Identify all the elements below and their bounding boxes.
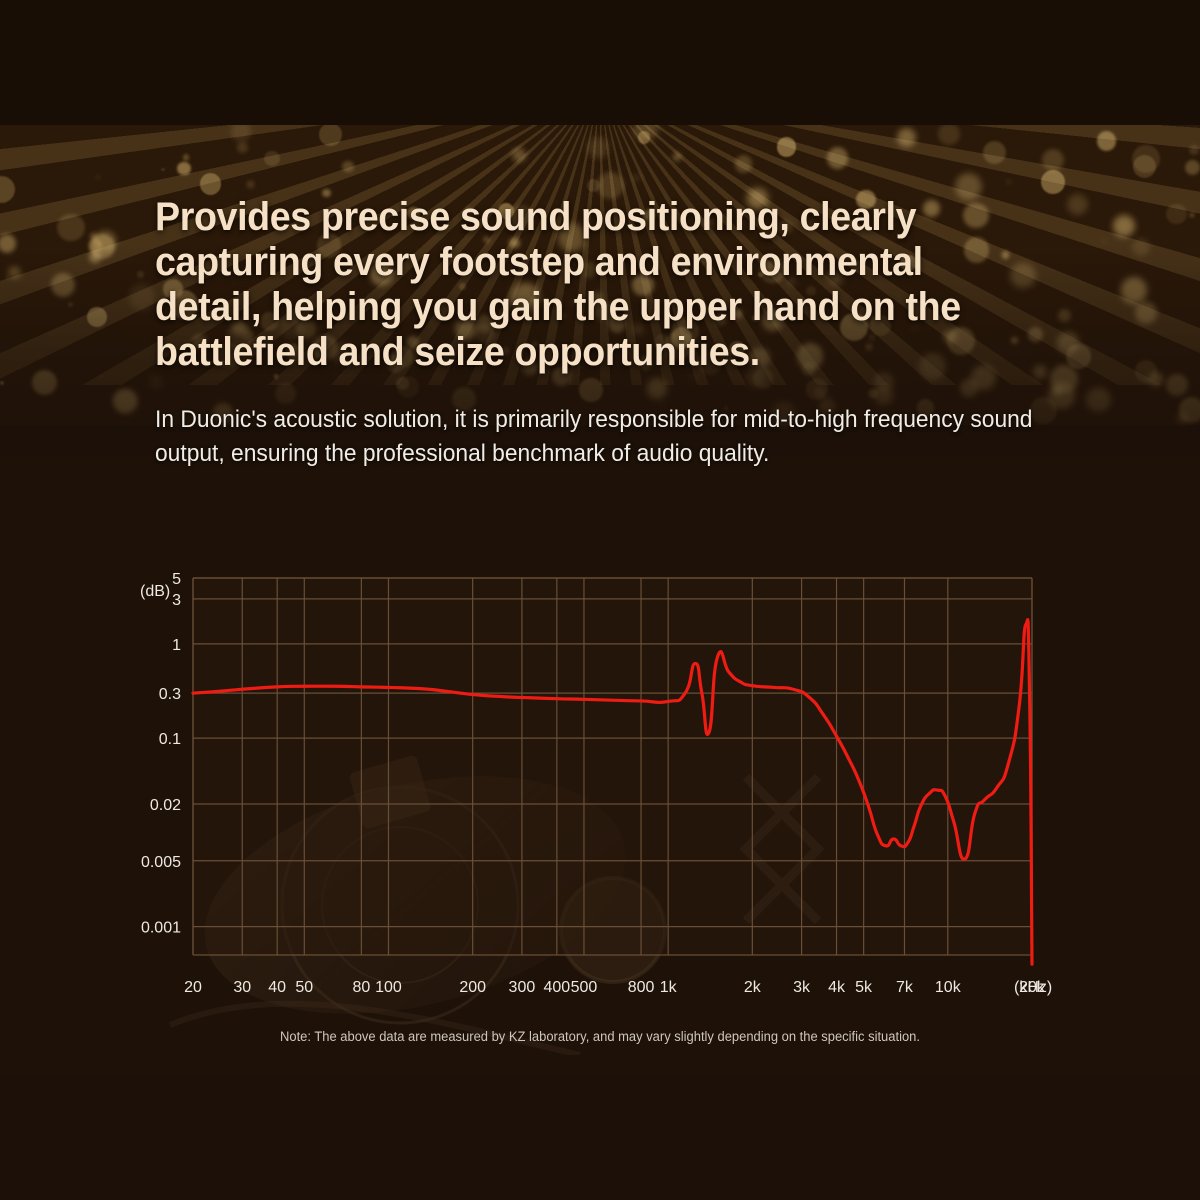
y-tick-label: 0.3 <box>159 686 181 703</box>
x-tick-label: 200 <box>459 979 486 996</box>
x-tick-label: 400 <box>544 979 571 996</box>
frequency-response-chart: 5310.30.10.020.0050.001 2030405080100200… <box>0 0 1200 1200</box>
chart-svg: 5310.30.10.020.0050.001 2030405080100200… <box>0 0 1200 1200</box>
chart-note: Note: The above data are measured by KZ … <box>24 1029 1176 1044</box>
x-tick-label: 50 <box>295 979 313 996</box>
letterbox-top <box>0 0 1200 125</box>
x-tick-label: 5k <box>855 979 873 996</box>
y-tick-label: 0.001 <box>141 920 181 937</box>
y-tick-label: 0.02 <box>150 797 181 814</box>
y-tick-label: 3 <box>172 592 181 609</box>
x-tick-label: 100 <box>375 979 402 996</box>
y-tick-label: 5 <box>172 571 181 588</box>
x-tick-label: 300 <box>509 979 536 996</box>
plot-area-background <box>193 578 1032 955</box>
letterbox-bottom <box>0 1075 1200 1200</box>
x-tick-label: 20 <box>184 979 202 996</box>
x-tick-label: 40 <box>268 979 286 996</box>
x-tick-label: 4k <box>828 979 846 996</box>
y-tick-label: 0.005 <box>141 854 181 871</box>
y-axis-tick-labels: 5310.30.10.020.0050.001 <box>141 571 181 937</box>
x-tick-label: 500 <box>571 979 598 996</box>
x-axis-label: (kHz) <box>1014 979 1052 996</box>
x-tick-label: 800 <box>628 979 655 996</box>
y-axis-label: (dB) <box>140 583 170 600</box>
x-tick-label: 2k <box>744 979 762 996</box>
x-tick-label: 10k <box>935 979 962 996</box>
x-tick-label: 1k <box>660 979 678 996</box>
x-tick-label: 30 <box>233 979 251 996</box>
x-axis-tick-labels: 20304050801002003004005008001k2k3k4k5k7k… <box>184 979 1046 996</box>
slide-root: Provides precise sound positioning, clea… <box>0 0 1200 1200</box>
x-tick-label: 7k <box>896 979 914 996</box>
x-tick-label: 3k <box>793 979 811 996</box>
x-tick-label: 80 <box>352 979 370 996</box>
y-tick-label: 0.1 <box>159 731 181 748</box>
y-tick-label: 1 <box>172 637 181 654</box>
